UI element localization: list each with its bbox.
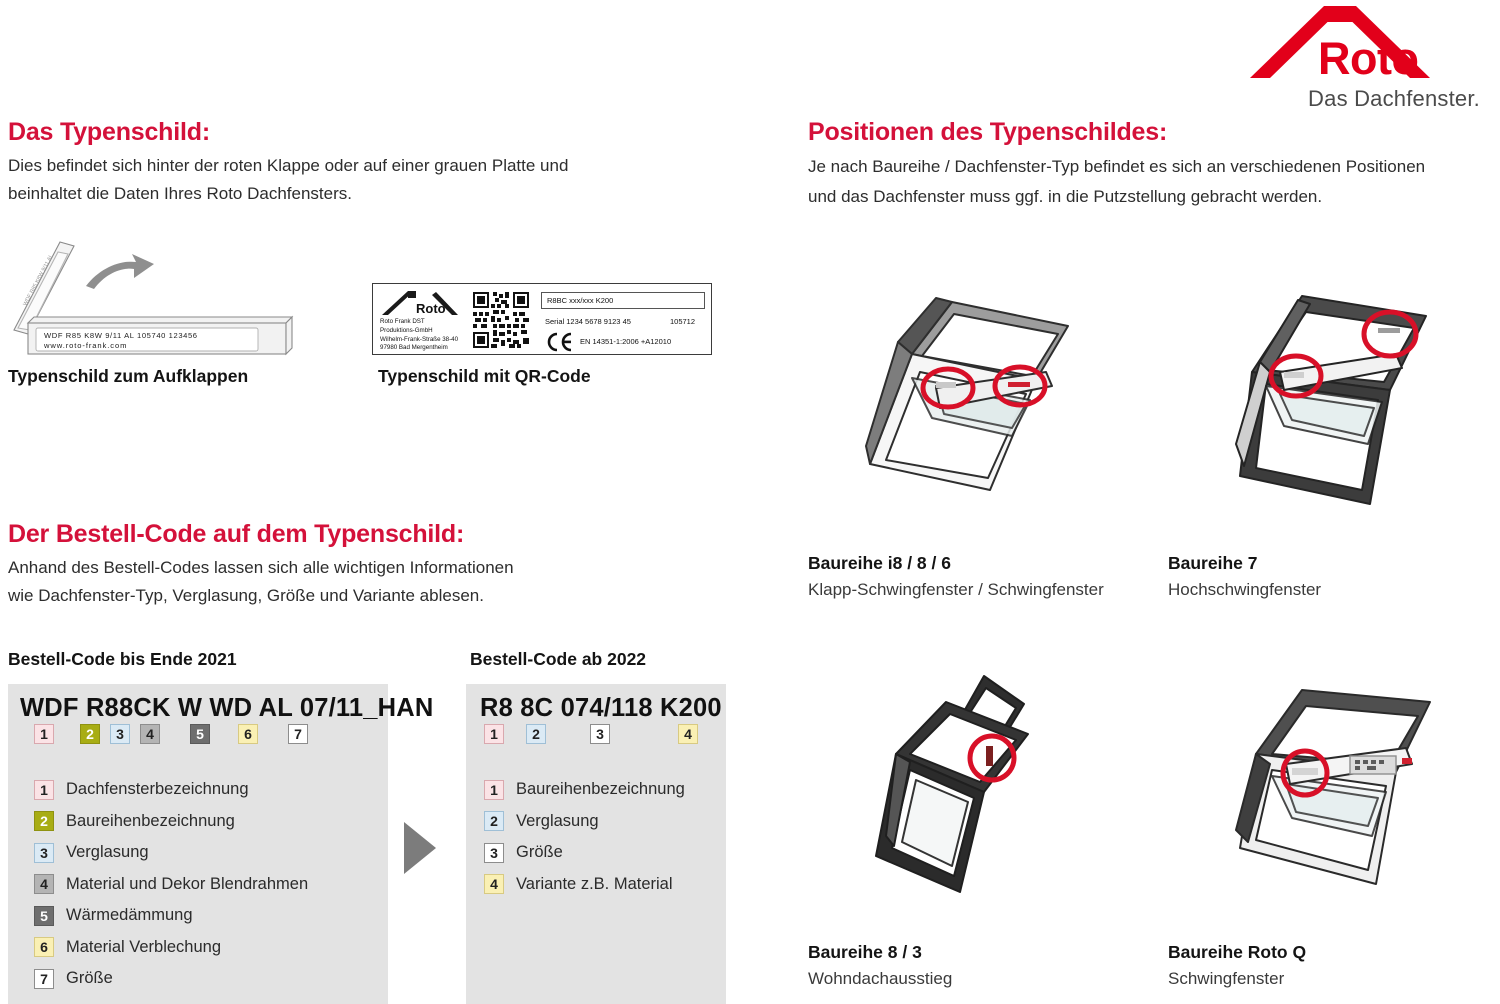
legend-row-old-5: 5 Wärmedämmung xyxy=(34,900,308,932)
code-old-markers: 1 2 3 4 5 6 7 xyxy=(34,724,374,746)
legend-badge-old-4: 4 xyxy=(34,874,54,894)
window-illustration-2 xyxy=(1200,268,1460,518)
svg-text:Roto: Roto xyxy=(416,301,446,316)
photo-title-4: Baureihe Roto Q xyxy=(1168,942,1306,963)
legend-badge-new-1: 1 xyxy=(484,780,504,800)
marker-old-6: 6 xyxy=(238,724,258,744)
intro-line-1: Dies befindet sich hinter der roten Klap… xyxy=(8,156,568,175)
legend-label-old-3: Verglasung xyxy=(66,843,149,862)
qr-label-address: Roto Frank DST Produktions-GmbH Wilhelm-… xyxy=(380,318,480,353)
photo-title-1: Baureihe i8 / 8 / 6 xyxy=(808,553,951,574)
intro-text-1: Dies befindet sich hinter der roten Klap… xyxy=(8,152,608,207)
legend-label-new-2: Verglasung xyxy=(516,812,599,831)
legend-label-old-6: Material Verblechung xyxy=(66,938,221,957)
logo-wordmark: Roto xyxy=(1318,36,1418,81)
intro-text-2: Anhand des Bestell-Codes lassen sich all… xyxy=(8,554,568,609)
legend-label-old-2: Baureihenbezeichnung xyxy=(66,812,235,831)
photo-subtitle-1: Klapp-Schwingfenster / Schwingfenster xyxy=(808,580,1104,600)
svg-text:WDF R85 K8W 9/11 AL 105740 123: WDF R85 K8W 9/11 AL 105740 123456 xyxy=(44,331,198,340)
marker-old-1: 1 xyxy=(34,724,54,744)
arrow-right-icon xyxy=(404,822,436,874)
flip-plate-drawing: WDF R85 K8W 9/11 AL WDF R85 K8W 9/11 AL … xyxy=(8,228,298,358)
marker-new-1: 1 xyxy=(484,724,504,744)
photo-baureihe-8-3 xyxy=(840,660,1100,910)
marker-new-2: 2 xyxy=(526,724,546,744)
legend-row-new-4: 4 Variante z.B. Material xyxy=(484,869,685,901)
legend-label-old-4: Material und Dekor Blendrahmen xyxy=(66,875,308,894)
marker-old-3: 3 xyxy=(110,724,130,744)
photo-title-2: Baureihe 7 xyxy=(1168,553,1257,574)
legend-code-new: 1 Baureihenbezeichnung 2 Verglasung 3 Gr… xyxy=(484,774,685,900)
photo-baureihe-7 xyxy=(1200,268,1460,518)
datasheet-page: Roto Das Dachfenster. Das Typenschild: D… xyxy=(0,0,1500,1004)
photo-baureihe-roto-q xyxy=(1200,660,1460,910)
ce-mark-icon xyxy=(545,332,575,352)
photo-subtitle-4: Schwingfenster xyxy=(1168,969,1284,989)
marker-new-3: 3 xyxy=(590,724,610,744)
legend-badge-new-2: 2 xyxy=(484,811,504,831)
qr-label-serial: Serial 1234 5678 9123 45 xyxy=(545,317,631,326)
photo-baureihe-i8-8-6 xyxy=(840,268,1100,518)
positions-intro: Je nach Baureihe / Dachfenster-Typ befin… xyxy=(808,152,1488,212)
heading-bestell-code: Der Bestell-Code auf dem Typenschild: xyxy=(8,520,464,549)
legend-badge-old-2: 2 xyxy=(34,811,54,831)
legend-row-old-4: 4 Material und Dekor Blendrahmen xyxy=(34,869,308,901)
legend-label-new-4: Variante z.B. Material xyxy=(516,875,673,894)
legend-row-old-3: 3 Verglasung xyxy=(34,837,308,869)
legend-label-new-1: Baureihenbezeichnung xyxy=(516,780,685,799)
logo-tagline: Das Dachfenster. xyxy=(1308,86,1480,112)
legend-badge-new-3: 3 xyxy=(484,843,504,863)
title-code-old: Bestell-Code bis Ende 2021 xyxy=(8,649,237,670)
addr-4: 97980 Bad Mergentheim xyxy=(380,344,448,351)
marker-new-4: 4 xyxy=(678,724,698,744)
legend-row-new-2: 2 Verglasung xyxy=(484,806,685,838)
caption-flip-plate: Typenschild zum Aufklappen xyxy=(8,366,248,387)
legend-row-old-2: 2 Baureihenbezeichnung xyxy=(34,806,308,838)
legend-row-new-1: 1 Baureihenbezeichnung xyxy=(484,774,685,806)
window-illustration-4 xyxy=(1200,660,1460,910)
window-illustration-1 xyxy=(840,268,1100,518)
heading-positionen: Positionen des Typenschildes: xyxy=(808,118,1167,147)
code-old-string: WDF R88CK W WD AL 07/11_HAN xyxy=(20,694,433,723)
caption-qr-label: Typenschild mit QR-Code xyxy=(378,366,591,387)
addr-2: Produktions-GmbH xyxy=(380,327,433,334)
marker-old-2: 2 xyxy=(80,724,100,744)
heading-typenschild: Das Typenschild: xyxy=(8,118,210,147)
window-illustration-3 xyxy=(840,660,1100,910)
addr-1: Roto Frank DST xyxy=(380,318,425,325)
figure-qr-label: Roto Roto Frank DST Produktions-GmbH Wil… xyxy=(372,283,712,355)
qr-label-code-box: R8BC xxx/xxx K200 xyxy=(541,292,705,309)
marker-old-5: 5 xyxy=(190,724,210,744)
svg-text:www.roto-frank.com: www.roto-frank.com xyxy=(43,341,127,350)
legend-badge-new-4: 4 xyxy=(484,874,504,894)
legend-label-old-1: Dachfensterbezeichnung xyxy=(66,780,249,799)
qr-label-logo-icon: Roto xyxy=(380,289,462,317)
photo-subtitle-3: Wohndachausstieg xyxy=(808,969,952,989)
title-code-new: Bestell-Code ab 2022 xyxy=(470,649,646,670)
marker-old-7: 7 xyxy=(288,724,308,744)
qr-code-icon xyxy=(473,292,529,348)
legend-code-old: 1 Dachfensterbezeichnung 2 Baureihenbeze… xyxy=(34,774,308,995)
legend-badge-old-3: 3 xyxy=(34,843,54,863)
qr-label-number: 105712 xyxy=(670,317,695,326)
photo-title-3: Baureihe 8 / 3 xyxy=(808,942,922,963)
positions-line-2: und das Dachfenster muss ggf. in die Put… xyxy=(808,187,1322,206)
legend-row-old-6: 6 Material Verblechung xyxy=(34,932,308,964)
code-new-string: R8 8C 074/118 K200 xyxy=(480,694,722,723)
legend-label-new-3: Größe xyxy=(516,843,563,862)
qr-label-code-text: R8BC xxx/xxx K200 xyxy=(547,296,613,305)
figure-flip-plate: WDF R85 K8W 9/11 AL WDF R85 K8W 9/11 AL … xyxy=(8,228,298,358)
legend-row-old-7: 7 Größe xyxy=(34,963,308,995)
addr-3: Wilhelm-Frank-Straße 38-40 xyxy=(380,336,458,343)
intro2-line-1: Anhand des Bestell-Codes lassen sich all… xyxy=(8,558,514,577)
legend-row-new-3: 3 Größe xyxy=(484,837,685,869)
legend-badge-old-7: 7 xyxy=(34,969,54,989)
roto-logo: Roto Das Dachfenster. xyxy=(1250,6,1482,114)
legend-label-old-7: Größe xyxy=(66,969,113,988)
code-new-markers: 1 2 3 4 xyxy=(484,724,714,746)
legend-label-old-5: Wärmedämmung xyxy=(66,906,193,925)
intro2-line-2: wie Dachfenster-Typ, Verglasung, Größe u… xyxy=(8,586,484,605)
photo-subtitle-2: Hochschwingfenster xyxy=(1168,580,1321,600)
qr-label-norm: EN 14351-1:2006 +A12010 xyxy=(580,337,671,346)
intro-line-2: beinhaltet die Daten Ihres Roto Dachfens… xyxy=(8,184,352,203)
legend-row-old-1: 1 Dachfensterbezeichnung xyxy=(34,774,308,806)
positions-line-1: Je nach Baureihe / Dachfenster-Typ befin… xyxy=(808,157,1425,176)
legend-badge-old-6: 6 xyxy=(34,937,54,957)
legend-badge-old-5: 5 xyxy=(34,906,54,926)
legend-badge-old-1: 1 xyxy=(34,780,54,800)
marker-old-4: 4 xyxy=(140,724,160,744)
